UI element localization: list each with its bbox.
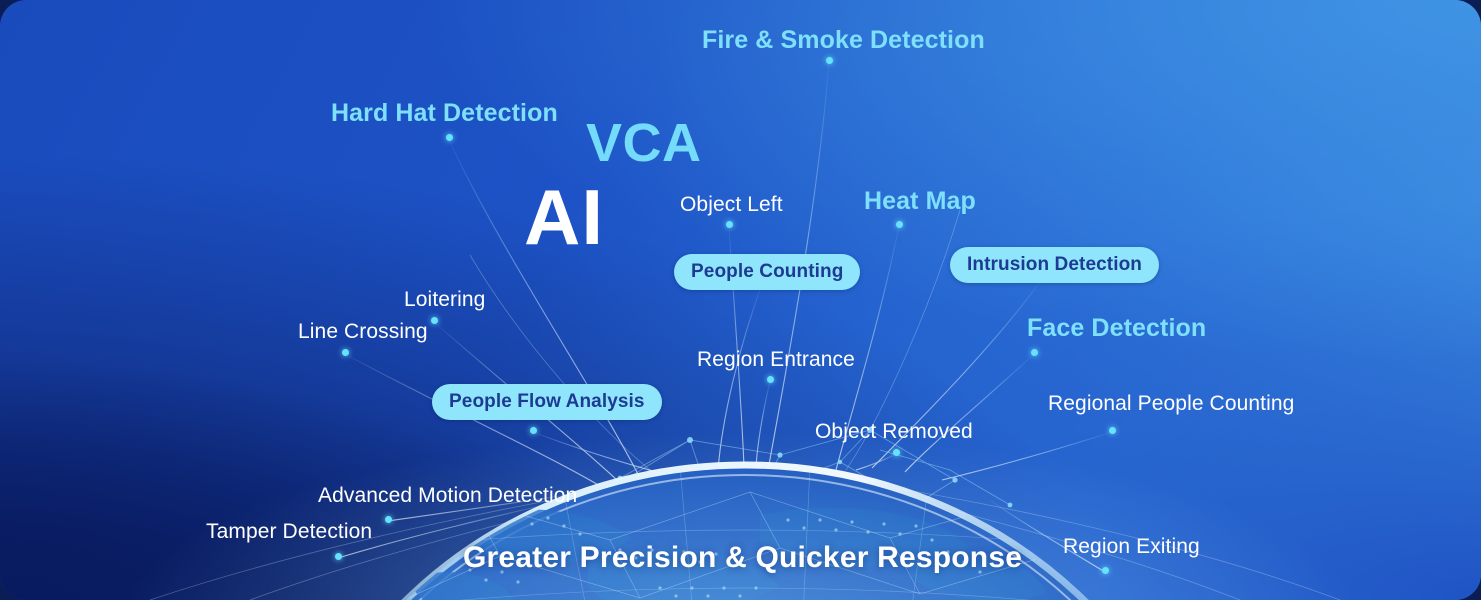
feature-label-object-removed[interactable]: Object Removed (815, 421, 973, 442)
feature-label-tamper-detection[interactable]: Tamper Detection (206, 521, 372, 542)
feature-label-ai: AI (524, 178, 604, 256)
feature-label-object-left[interactable]: Object Left (680, 194, 783, 215)
feature-label-face-detection[interactable]: Face Detection (1027, 316, 1206, 341)
feature-label-fire-smoke-detection[interactable]: Fire & Smoke Detection (702, 28, 985, 53)
feature-label-hard-hat-detection[interactable]: Hard Hat Detection (331, 101, 558, 126)
feature-label-loitering[interactable]: Loitering (404, 289, 485, 310)
feature-label-line-crossing[interactable]: Line Crossing (298, 321, 428, 342)
feature-label-heat-map[interactable]: Heat Map (864, 189, 976, 214)
feature-label-regional-people-counting[interactable]: Regional People Counting (1048, 393, 1294, 414)
feature-label-layer: Fire & Smoke DetectionHard Hat Detection… (0, 0, 1481, 600)
feature-label-vca: VCA (586, 116, 702, 170)
feature-pill-intrusion-detection[interactable]: Intrusion Detection (950, 247, 1159, 283)
feature-label-region-entrance[interactable]: Region Entrance (697, 349, 855, 370)
feature-label-advanced-motion-detection[interactable]: Advanced Motion Detection (318, 485, 577, 506)
feature-pill-people-flow-analysis[interactable]: People Flow Analysis (432, 384, 662, 420)
feature-label-region-exiting[interactable]: Region Exiting (1063, 536, 1200, 557)
vca-feature-banner: Fire & Smoke DetectionHard Hat Detection… (0, 0, 1481, 600)
feature-pill-people-counting[interactable]: People Counting (674, 254, 860, 290)
tagline: Greater Precision & Quicker Response (463, 541, 1022, 575)
